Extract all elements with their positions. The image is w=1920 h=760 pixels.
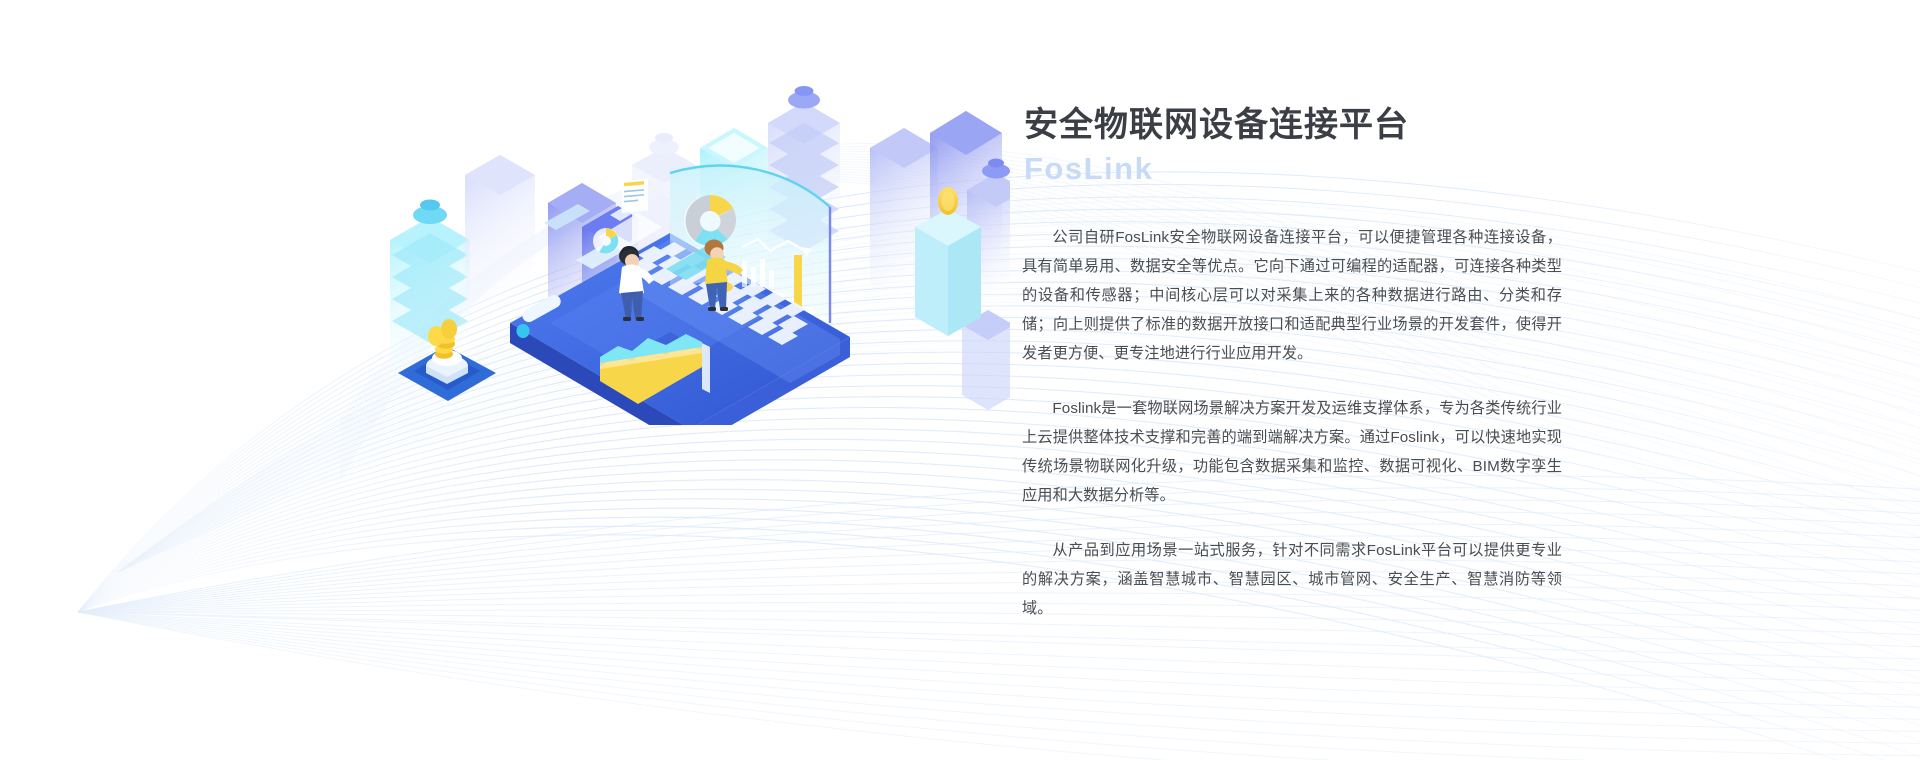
product-name-subtitle: FosLink [1024, 149, 1562, 189]
description-paragraph-3: 从产品到应用场景一站式服务，针对不同需求FosLink平台可以提供更专业的解决方… [1022, 536, 1562, 623]
donut-chart [684, 195, 736, 247]
building-stepped-left [390, 200, 470, 379]
page-title: 安全物联网设备连接平台 [1024, 104, 1562, 147]
hero-text-column: 安全物联网设备连接平台 FosLink 公司自研FosLink安全物联网设备连接… [1022, 104, 1562, 623]
description-paragraph-1: 公司自研FosLink安全物联网设备连接平台，可以便捷管理各种连接设备，具有简单… [1022, 223, 1562, 368]
hero-section: 安全物联网设备连接平台 FosLink 公司自研FosLink安全物联网设备连接… [0, 0, 1920, 760]
description-paragraph-2: Foslink是一套物联网场景解决方案开发及运维支撑体系，专为各类传统行业上云提… [1022, 394, 1562, 510]
hero-illustration [370, 55, 1010, 425]
